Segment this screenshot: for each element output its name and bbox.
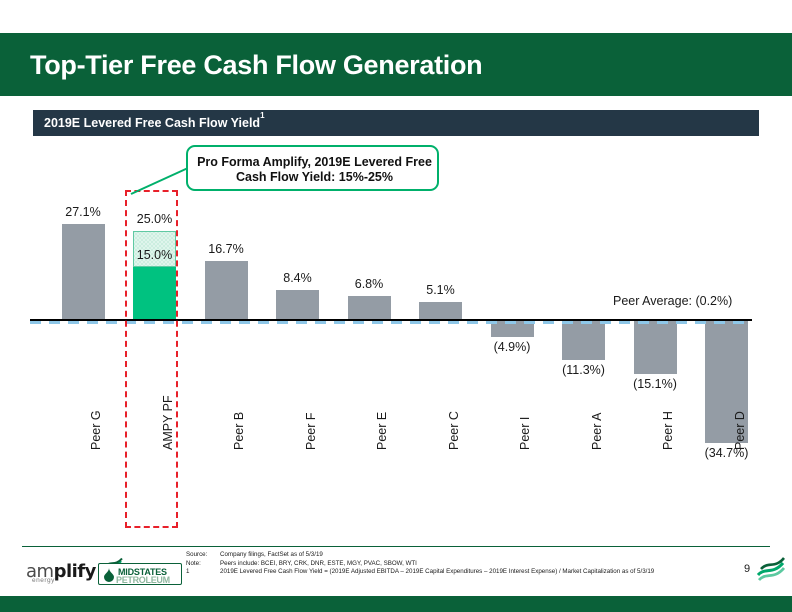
bar-value-label: (15.1%) bbox=[610, 377, 700, 391]
bar-value-label: (4.9%) bbox=[467, 340, 557, 354]
bar-peer-b bbox=[205, 261, 248, 320]
footnote-1: 1 2019E Levered Free Cash Flow Yield = (… bbox=[186, 568, 731, 577]
amplify-word-bold: plify bbox=[54, 561, 96, 582]
bar-value-label: (34.7%) bbox=[682, 446, 772, 460]
page-number: 9 bbox=[744, 563, 750, 575]
bar-peer-d bbox=[705, 320, 748, 443]
footer-divider bbox=[22, 546, 770, 547]
callout-tail bbox=[128, 166, 190, 196]
footnote-source: Source: Company filings, FactSet as of 5… bbox=[186, 551, 731, 560]
bar-value-label: 8.4% bbox=[253, 271, 343, 285]
bar-peer-a bbox=[562, 320, 605, 360]
slide: Top-Tier Free Cash Flow Generation 2019E… bbox=[0, 0, 792, 612]
category-label-peer-h: Peer H bbox=[661, 411, 675, 450]
footnote-1-value: 2019E Levered Free Cash Flow Yield = (20… bbox=[220, 568, 731, 577]
subtitle-bar: 2019E Levered Free Cash Flow Yield1 bbox=[33, 110, 759, 136]
subtitle-footnote-marker: 1 bbox=[260, 111, 264, 120]
footnote-note-value: Peers include: BCEI, BRY, CRK, DNR, ESTE… bbox=[220, 560, 731, 569]
subtitle-label: 2019E Levered Free Cash Flow Yield1 bbox=[44, 115, 265, 130]
bar-peer-g bbox=[62, 224, 105, 320]
category-label-peer-d: Peer D bbox=[733, 411, 747, 450]
bar-value-label: (11.3%) bbox=[539, 363, 629, 377]
category-label-peer-b: Peer B bbox=[232, 412, 246, 450]
footnote-1-key: 1 bbox=[186, 568, 220, 577]
oil-drop-icon bbox=[103, 568, 115, 582]
footer-band bbox=[0, 596, 792, 612]
category-label-peer-a: Peer A bbox=[590, 412, 604, 450]
peer-average-label: Peer Average: (0.2%) bbox=[613, 294, 732, 308]
category-label-peer-i: Peer I bbox=[518, 417, 532, 450]
page-title: Top-Tier Free Cash Flow Generation bbox=[30, 50, 482, 81]
bar-peer-c bbox=[419, 302, 462, 320]
ampy-highlight-box bbox=[125, 190, 178, 528]
midstates-logo: MIDSTATES PETROLEUM bbox=[98, 563, 182, 585]
category-label-peer-e: Peer E bbox=[375, 412, 389, 450]
bar-peer-e bbox=[348, 296, 391, 320]
callout-box: Pro Forma Amplify, 2019E Levered Free Ca… bbox=[186, 145, 439, 191]
callout-text: Pro Forma Amplify, 2019E Levered Free Ca… bbox=[188, 155, 441, 185]
footnote-note-key: Note: bbox=[186, 560, 220, 569]
bar-value-label: 27.1% bbox=[38, 205, 128, 219]
subtitle-text: 2019E Levered Free Cash Flow Yield bbox=[44, 116, 260, 130]
category-label-peer-f: Peer F bbox=[304, 412, 318, 450]
callout-line-1: Pro Forma Amplify, 2019E Levered Free bbox=[188, 155, 441, 170]
footnote-source-key: Source: bbox=[186, 551, 220, 560]
bar-peer-f bbox=[276, 290, 319, 320]
category-label-peer-c: Peer C bbox=[447, 411, 461, 450]
footnotes: Source: Company filings, FactSet as of 5… bbox=[186, 551, 731, 577]
amplify-tagline: energy bbox=[32, 577, 55, 584]
bar-value-label: 16.7% bbox=[181, 242, 271, 256]
footer-waves-icon bbox=[756, 556, 786, 582]
category-label-peer-g: Peer G bbox=[89, 410, 103, 450]
bar-peer-h bbox=[634, 320, 677, 374]
footnote-source-value: Company filings, FactSet as of 5/3/19 bbox=[220, 551, 731, 560]
footnote-note: Note: Peers include: BCEI, BRY, CRK, DNR… bbox=[186, 560, 731, 569]
bar-value-label: 5.1% bbox=[396, 283, 486, 297]
bar-value-label: 6.8% bbox=[324, 277, 414, 291]
callout-line-2: Cash Flow Yield: 15%-25% bbox=[188, 170, 441, 185]
midstates-line-2: PETROLEUM bbox=[116, 575, 170, 585]
bar-peer-i bbox=[491, 320, 534, 337]
